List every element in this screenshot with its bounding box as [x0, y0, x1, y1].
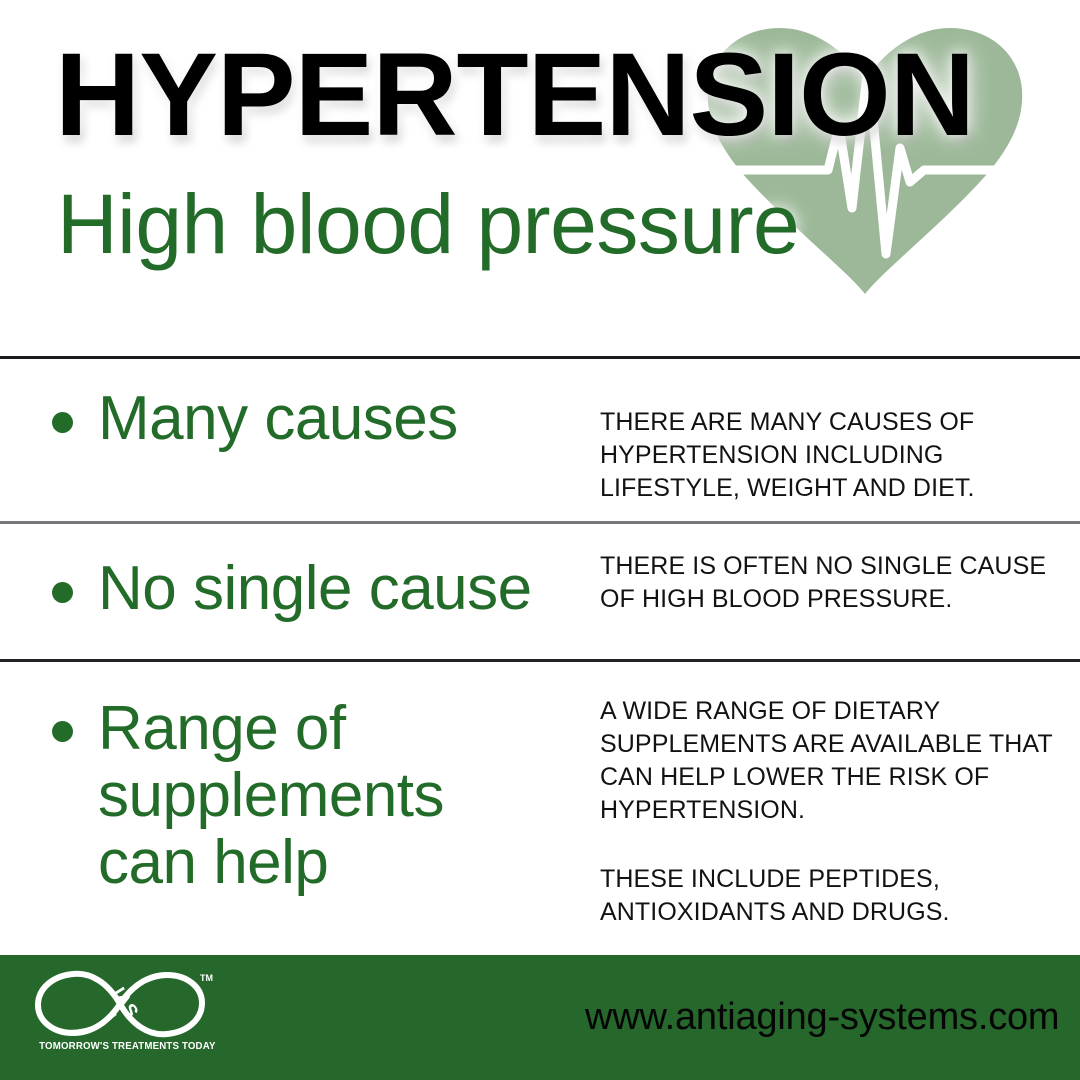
heading-line: No single cause [98, 556, 532, 623]
content-row-range-of-supplements: Range of supplements can help A WIDE RAN… [0, 662, 1080, 950]
body-line: OF HIGH BLOOD PRESSURE. [600, 583, 1040, 616]
body-line: CAN HELP LOWER THE RISK OF [600, 761, 1040, 794]
bullet-dot-icon [52, 412, 73, 433]
row-heading-text: No single cause [98, 556, 532, 623]
content-row-many-causes: Many causes THERE ARE MANY CAUSES OF HYP… [0, 359, 1080, 521]
body-line: A WIDE RANGE OF DIETARY [600, 695, 1040, 728]
page-subtitle: High blood pressure [57, 182, 799, 266]
infographic-page: HYPERTENSION High blood pressure Many ca… [0, 0, 1080, 1080]
brand-logo[interactable]: TM IAS TOMORROW'S TREATMENTS TODAY [28, 968, 213, 1063]
body-line: THESE INCLUDE PEPTIDES, [600, 863, 1040, 896]
trademark-symbol: TM [200, 973, 213, 983]
infinity-logo-icon: TM IAS [28, 968, 213, 1040]
page-title: HYPERTENSION [55, 36, 974, 154]
row-body-area: THERE ARE MANY CAUSES OF HYPERTENSION IN… [600, 359, 1080, 505]
row-body-area: A WIDE RANGE OF DIETARY SUPPLEMENTS ARE … [600, 662, 1080, 929]
row-heading-area: No single cause [0, 524, 600, 623]
body-line: THERE ARE MANY CAUSES OF [600, 406, 1040, 439]
body-line: LIFESTYLE, WEIGHT AND DIET. [600, 472, 1040, 505]
body-paragraph: THERE IS OFTEN NO SINGLE CAUSE OF HIGH B… [600, 550, 1040, 616]
body-line: HYPERTENSION INCLUDING [600, 439, 1040, 472]
body-paragraph: THERE ARE MANY CAUSES OF HYPERTENSION IN… [600, 406, 1040, 505]
website-url[interactable]: www.antiaging-systems.com [585, 955, 1059, 1080]
bullet-dot-icon [52, 721, 73, 742]
heading-line: Many causes [98, 386, 458, 453]
body-paragraph: A WIDE RANGE OF DIETARY SUPPLEMENTS ARE … [600, 695, 1040, 827]
bullet-dot-icon [52, 582, 73, 603]
content-row-no-single-cause: No single cause THERE IS OFTEN NO SINGLE… [0, 524, 1080, 659]
footer-bar: TM IAS TOMORROW'S TREATMENTS TODAY www.a… [0, 955, 1080, 1080]
row-heading-text: Many causes [98, 386, 458, 453]
body-line: SUPPLEMENTS ARE AVAILABLE THAT [600, 728, 1040, 761]
heading-line: Range of [98, 696, 444, 763]
logo-tagline: TOMORROW'S TREATMENTS TODAY [39, 1040, 203, 1052]
body-line: HYPERTENSION. [600, 794, 1040, 827]
row-heading-text: Range of supplements can help [98, 696, 444, 897]
body-line: THERE IS OFTEN NO SINGLE CAUSE [600, 550, 1040, 583]
header-section: HYPERTENSION High blood pressure [0, 0, 1080, 358]
row-heading-area: Many causes [0, 359, 600, 453]
row-body-area: THERE IS OFTEN NO SINGLE CAUSE OF HIGH B… [600, 524, 1080, 616]
body-line: ANTIOXIDANTS AND DRUGS. [600, 896, 1040, 929]
body-paragraph: THESE INCLUDE PEPTIDES, ANTIOXIDANTS AND… [600, 863, 1040, 929]
heading-line: supplements [98, 763, 444, 830]
heading-line: can help [98, 830, 444, 897]
row-heading-area: Range of supplements can help [0, 662, 600, 897]
